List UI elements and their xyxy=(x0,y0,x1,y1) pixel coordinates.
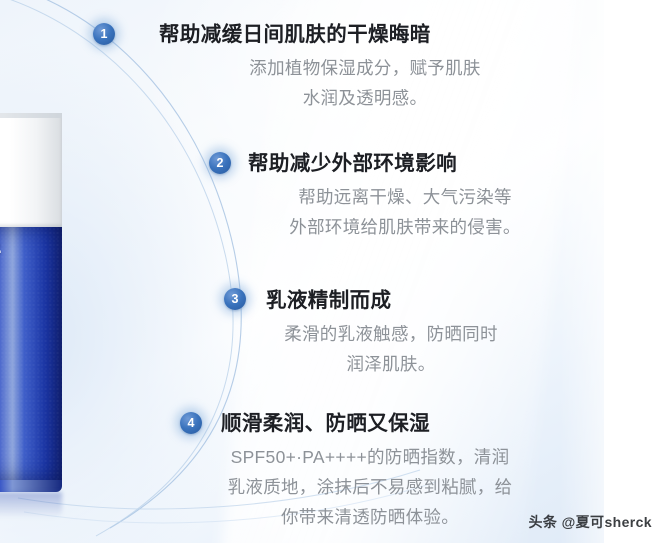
bottle-reflection xyxy=(0,492,62,518)
product-bottle: 肌 清 OTECT MILK SEI 薬用 xyxy=(0,113,62,505)
feature-badge-3: 3 xyxy=(224,288,246,310)
feature-badge-4: 4 xyxy=(180,412,202,434)
feature-badge-1: 1 xyxy=(93,23,115,45)
feature-body-2: 帮助远离干燥、大气污染等 外部环境给肌肤带来的侵害。 xyxy=(210,182,600,242)
feature-title-3: 乳液精制而成 xyxy=(266,283,391,313)
feature-title-4: 顺滑柔润、防晒又保湿 xyxy=(221,406,430,436)
watermark-label: 头条 @夏可sherck xyxy=(529,512,653,532)
feature-title-2: 帮助减少外部环境影响 xyxy=(248,146,457,176)
feature-body-3: 柔滑的乳液触感，防晒同时 润泽肌肤。 xyxy=(196,319,586,379)
bottle-base xyxy=(0,480,62,492)
bottle-texture xyxy=(0,227,62,480)
feature-badge-2: 2 xyxy=(209,152,231,174)
feature-title-1: 帮助减缓日间肌肤的干燥晦暗 xyxy=(159,17,431,47)
bottle-cap xyxy=(0,113,62,227)
infographic-canvas: 肌 清 OTECT MILK SEI 薬用 1 帮助减缓日间肌肤的干燥晦暗 添加… xyxy=(0,0,662,543)
feature-body-1: 添加植物保湿成分，赋予肌肤 水润及透明感。 xyxy=(200,53,530,113)
bottle-cap-top xyxy=(0,113,62,118)
bottle-body: 肌 清 OTECT MILK SEI 薬用 xyxy=(0,227,62,480)
